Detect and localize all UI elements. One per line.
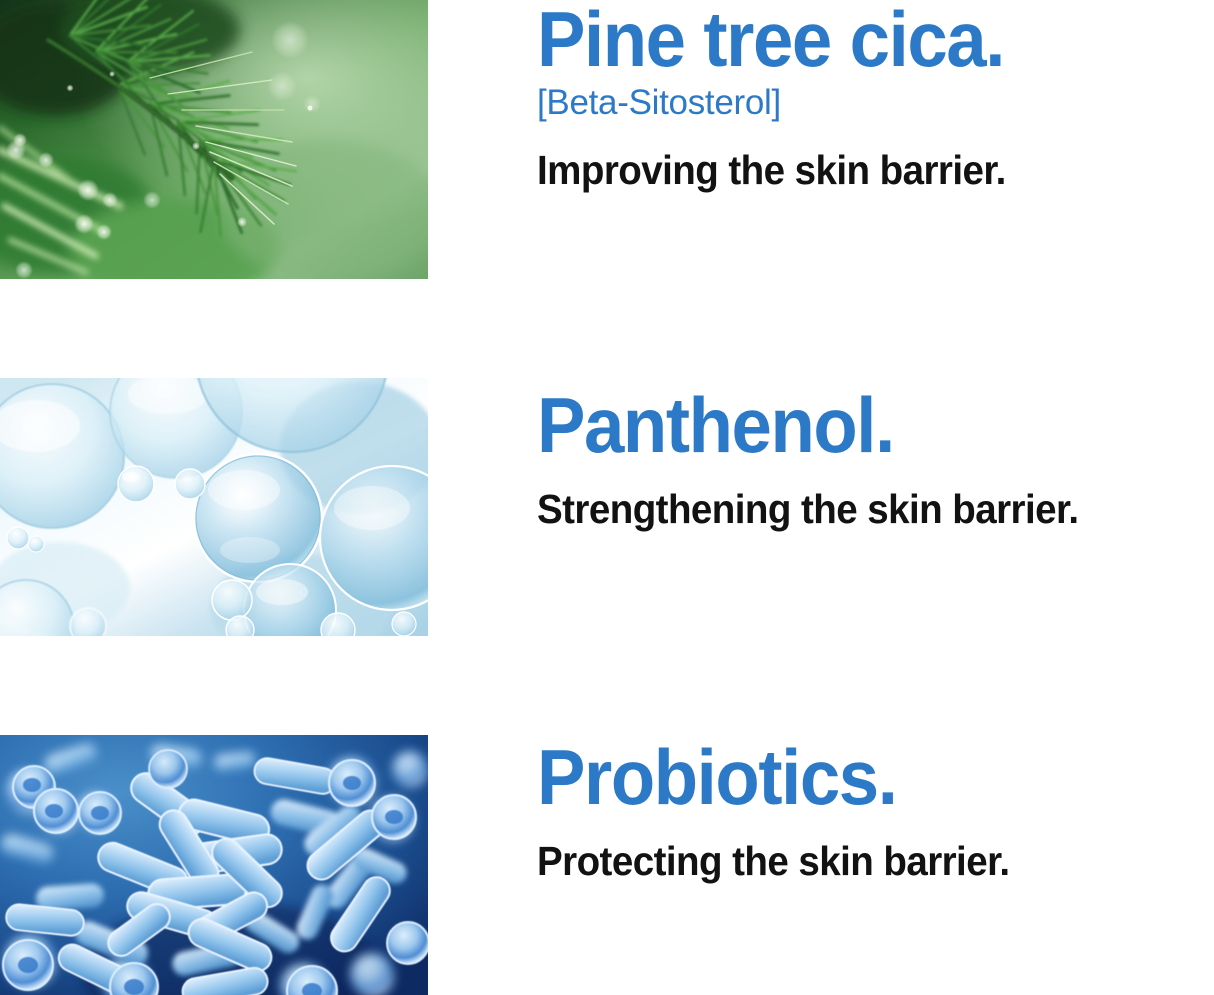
probiotics-text-block: Probiotics. Protecting the skin barrier. <box>537 740 1207 883</box>
benefit-probiotics: Protecting the skin barrier. <box>537 840 1167 883</box>
ingredient-benefits-page: Pine tree cica. [Beta-Sitosterol] Improv… <box>0 0 1214 995</box>
section-pine-tree-cica: Pine tree cica. [Beta-Sitosterol] Improv… <box>0 0 1214 340</box>
heading-probiotics: Probiotics. <box>537 740 1160 814</box>
heading-panthenol: Panthenol. <box>537 388 1160 462</box>
probiotic-bacteria-photo <box>0 735 428 995</box>
section-probiotics: Probiotics. Protecting the skin barrier. <box>0 720 1214 995</box>
benefit-pine-tree-cica: Improving the skin barrier. <box>537 149 1167 192</box>
section-panthenol: Panthenol. Strengthening the skin barrie… <box>0 360 1214 700</box>
pine-tree-photo <box>0 0 428 279</box>
water-bubbles-photo <box>0 378 428 636</box>
subheading-beta-sitosterol: [Beta-Sitosterol] <box>537 84 1207 123</box>
benefit-panthenol: Strengthening the skin barrier. <box>537 488 1167 531</box>
heading-pine-tree-cica: Pine tree cica. <box>537 2 1160 76</box>
pine-text-block: Pine tree cica. [Beta-Sitosterol] Improv… <box>537 2 1207 192</box>
panthenol-text-block: Panthenol. Strengthening the skin barrie… <box>537 388 1207 531</box>
